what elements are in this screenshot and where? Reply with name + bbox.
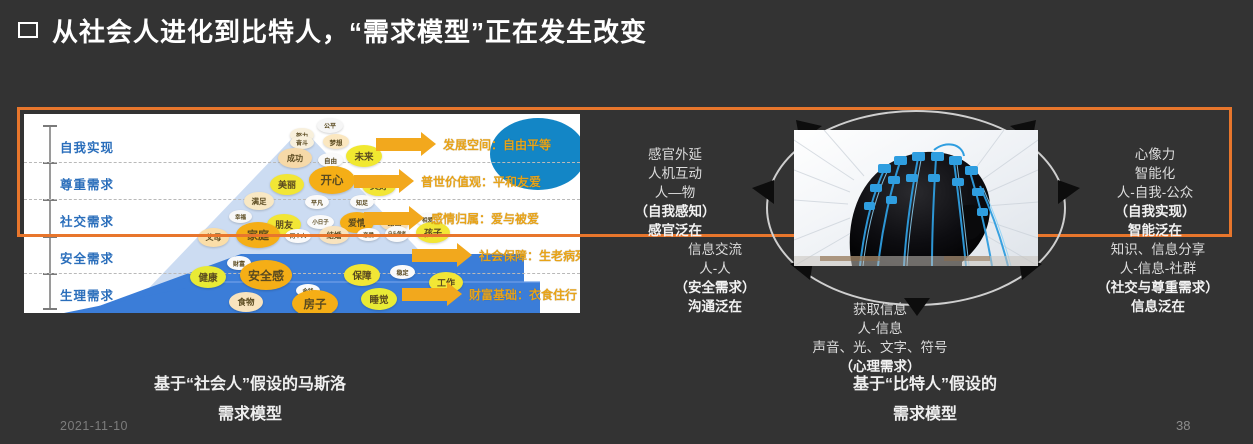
need-bubble: 结婚 <box>319 226 349 244</box>
eeg-head-illustration <box>794 130 1038 266</box>
arrow-right-icon <box>402 288 448 301</box>
need-bubble: 安全感 <box>240 260 292 290</box>
level-axis <box>49 125 51 310</box>
eeg-head-image <box>794 130 1038 266</box>
bit-text-bottom-right: 知识、信息分享 人-信息-社群 （社交与尊重需求） 信息泛在 <box>1068 240 1248 316</box>
need-bubble: 公平 <box>317 118 343 133</box>
need-bubble: 稳定 <box>390 265 415 279</box>
arrow-right-icon <box>354 175 400 188</box>
page-title: 从社会人进化到比特人，“需求模型”正在发生改变 <box>52 12 647 49</box>
pyramid-arrow-2: 普世价值观：平和友爱 <box>354 173 541 190</box>
pyramid-level-safety: 安全需求 <box>60 248 114 267</box>
need-bubble: 幸福 <box>229 210 252 223</box>
pyramid-arrow-label-4: 社会保障：生老病死 <box>479 247 580 264</box>
arrow-right-icon <box>412 249 458 262</box>
pyramid-level-social: 社交需求 <box>60 211 114 230</box>
pyramid-arrow-label-3: 感情归属：爱与被爱 <box>431 210 539 227</box>
pyramid-arrow-1: 发展空间：自由平等 <box>376 136 551 153</box>
pyramid-arrow-5: 财富基础：衣食住行 <box>402 286 577 303</box>
need-bubble: 满足 <box>244 192 274 210</box>
footer-page-number: 38 <box>1176 418 1190 433</box>
need-bubble: 成功 <box>278 148 312 168</box>
axis-tick <box>43 125 57 127</box>
need-bubble: 开心 <box>309 166 355 194</box>
caption-left: 基于“社会人”假设的马斯洛 需求模型 <box>80 370 420 430</box>
caption-right: 基于“比特人”假设的 需求模型 <box>760 370 1090 430</box>
footer-date: 2021-11-10 <box>60 419 128 433</box>
bit-text-top-right: 心像力 智能化 人-自我-公众 （自我实现） 智能泛在 <box>1080 145 1230 240</box>
rectangle-outline-icon <box>18 22 38 38</box>
pyramid-arrow-label-2: 普世价值观：平和友爱 <box>421 173 541 190</box>
arrow-right-icon <box>376 138 422 151</box>
need-bubble: 房子 <box>292 290 338 313</box>
need-bubble: 美丽 <box>270 174 304 195</box>
pyramid-level-self-actualization: 自我实现 <box>60 137 114 156</box>
need-bubble: 平凡 <box>305 195 329 209</box>
need-bubble: 梦想 <box>323 134 349 149</box>
pyramid-level-esteem: 尊重需求 <box>60 174 114 193</box>
arrow-right-icon <box>364 212 410 225</box>
need-bubble: 知足 <box>350 195 374 209</box>
pyramid-arrow-3: 感情归属：爱与被爱 <box>364 210 539 227</box>
pyramid-arrow-4: 社会保障：生老病死 <box>412 247 580 264</box>
level-divider <box>24 199 580 200</box>
pyramid-level-physiological: 生理需求 <box>60 285 114 304</box>
need-bubble: 睡觉 <box>361 288 397 310</box>
need-bubble: 父母 <box>198 228 229 247</box>
pyramid-arrow-label-1: 发展空间：自由平等 <box>443 136 551 153</box>
need-bubble: 保障 <box>344 264 380 286</box>
need-bubble: 恋爱 <box>357 228 380 241</box>
need-bubble: 白头偕老 <box>385 226 409 242</box>
need-bubble: 两个人 <box>285 229 311 243</box>
level-divider <box>24 273 580 274</box>
pyramid-arrow-label-5: 财富基础：衣食住行 <box>469 286 577 303</box>
need-bubble: 健康 <box>190 266 226 288</box>
need-bubble: 家庭 <box>236 222 280 248</box>
maslow-pyramid-panel: 自我实现 尊重需求 社交需求 安全需求 生理需求 公平努力奋斗梦想成功自由未来美… <box>24 114 580 313</box>
bit-person-center-stage <box>744 104 1088 316</box>
slide-title-bar: 从社会人进化到比特人，“需求模型”正在发生改变 <box>18 8 1218 52</box>
need-bubble: 食物 <box>229 292 263 312</box>
axis-tick <box>43 308 57 310</box>
need-bubble: 自由 <box>318 153 343 167</box>
bit-text-top-left: 感官外延 人机互动 人—物 （自我感知） 感官泛在 <box>595 145 755 240</box>
